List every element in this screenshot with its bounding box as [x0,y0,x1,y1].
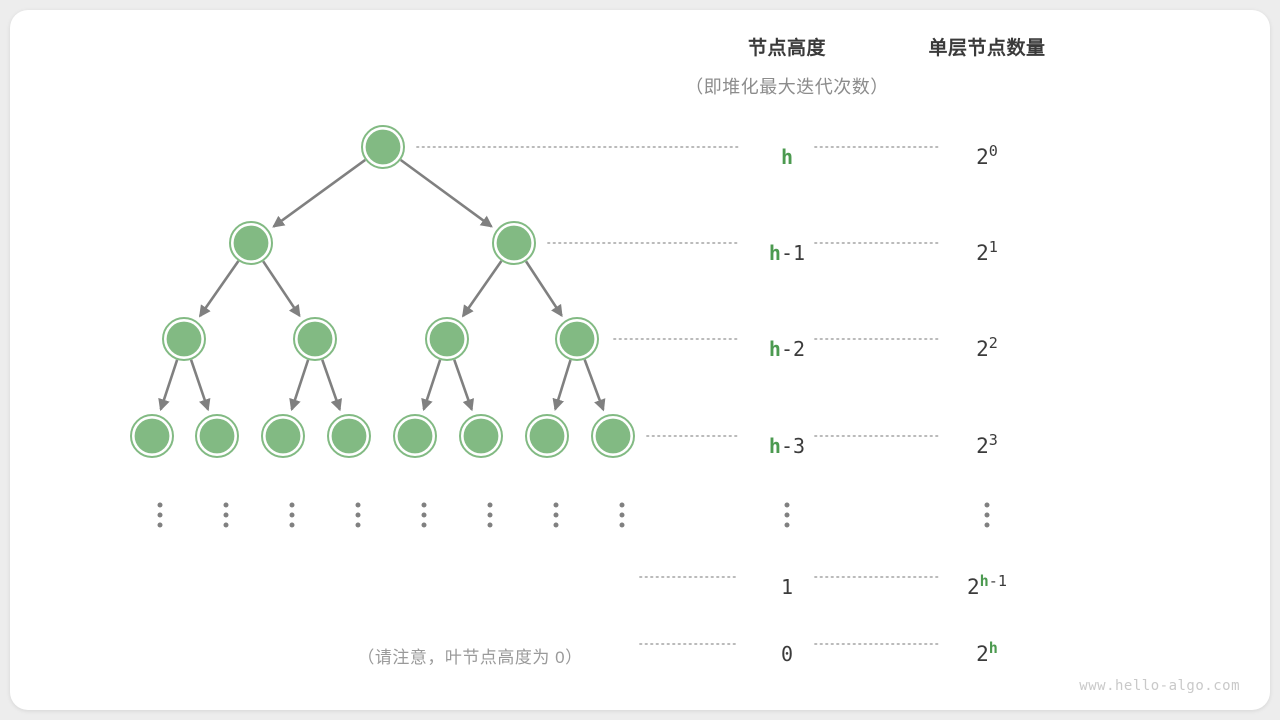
ellipsis-dot [488,503,493,508]
tree-node [163,318,205,360]
tree-edge [463,261,501,316]
count-label-level-2: 22 [976,337,998,361]
ellipsis-dot [422,513,427,518]
count-exponent: 2 [989,334,998,352]
exponent-rest: 3 [989,431,998,449]
ellipsis-dot [356,523,361,528]
tree-edge [555,360,570,409]
count-exponent: 1 [989,238,998,256]
ellipsis-dot [290,503,295,508]
tree-edge [424,360,440,410]
height-symbol: h [769,337,781,361]
tree-edges [161,160,603,410]
ellipsis-dot [356,513,361,518]
count-label-level-last: 2h [976,642,998,666]
tree-column-ellipsis [224,503,229,528]
tree-node [394,415,436,457]
height-label-level-1: h-1 [769,241,805,265]
height-label-level-2: h-2 [769,337,805,361]
ellipsis-dot [554,513,559,518]
tree-node [230,222,272,264]
ellipsis-dot [554,503,559,508]
tree-node [526,415,568,457]
count-column-ellipsis [985,503,990,528]
ellipsis-dot [785,523,790,528]
count-label-level-penultimate: 2h-1 [967,575,1007,599]
tree-column-ellipsis [158,503,163,528]
ellipsis-dot [620,523,625,528]
leaf-height-note: （请注意，叶节点高度为 0） [357,643,582,668]
count-exponent: 0 [989,142,998,160]
ellipsis-dot [785,513,790,518]
count-exponent: 3 [989,431,998,449]
ellipsis-dot [290,523,295,528]
ellipsis-dot [356,503,361,508]
ellipsis-dot [488,513,493,518]
ellipsis-dot [158,503,163,508]
tree-node [460,415,502,457]
count-base: 2 [976,434,989,458]
tree-edge [322,360,339,410]
column-header-node-height: 节点高度 [748,33,826,60]
tree-diagram-svg [0,0,1270,710]
tree-edge [292,360,308,410]
ellipsis-dot [488,523,493,528]
exponent-rest: 1 [989,238,998,256]
count-exponent: h-1 [980,572,1007,590]
tree-node [294,318,336,360]
count-base: 2 [976,241,989,265]
tree-edge [585,360,604,410]
tree-edge [401,160,492,226]
height-offset: -3 [781,434,805,458]
tree-edge [526,261,562,315]
height-label-level-last: 0 [781,642,793,666]
tree-column-ellipsis [554,503,559,528]
ellipsis-dot [620,503,625,508]
ellipsis-dot [422,523,427,528]
tree-edge [263,261,299,315]
ellipsis-dot [620,513,625,518]
ellipsis-dot [422,503,427,508]
ellipsis-dot [224,503,229,508]
tree-column-ellipsis [356,503,361,528]
exponent-rest: 0 [989,142,998,160]
tree-column-ellipsis [290,503,295,528]
exponent-rest: 2 [989,334,998,352]
count-base: 2 [976,337,989,361]
tree-node [328,415,370,457]
height-symbol: h [769,241,781,265]
tree-column-ellipsis [422,503,427,528]
tree-node [131,415,173,457]
height-symbol: h [781,145,793,169]
height-offset: -2 [781,337,805,361]
height-symbol: h [769,434,781,458]
count-base: 2 [967,575,980,599]
tree-column-ellipsis [488,503,493,528]
tree-node [262,415,304,457]
tree-node [362,126,404,168]
ellipsis-dot [158,523,163,528]
tree-edge [191,360,208,410]
ellipsis-dot [224,513,229,518]
ellipsis-dot [290,513,295,518]
diagram-stage: 节点高度 （即堆化最大迭代次数） 单层节点数量 （请注意，叶节点高度为 0） w… [0,0,1280,720]
height-column-ellipsis [785,503,790,528]
tree-edge [200,261,238,316]
height-offset: -1 [781,241,805,265]
column-header-nodes-per-level: 单层节点数量 [928,33,1045,60]
column-header-node-height-subtitle: （即堆化最大迭代次数） [685,73,889,99]
height-label-level-0: h [781,145,793,169]
tree-edge [274,160,366,227]
tree-column-ellipsis [620,503,625,528]
ellipsis-dot [985,513,990,518]
dotted-connector-lines [417,147,939,644]
ellipsis-dot [158,513,163,518]
height-label-level-3: h-3 [769,434,805,458]
ellipsis-dot [224,523,229,528]
tree-node [592,415,634,457]
count-exponent: h [989,639,998,657]
tree-edge [454,360,471,410]
exponent-height-symbol: h [989,639,998,657]
exponent-rest: -1 [989,572,1007,590]
tree-node [196,415,238,457]
count-base: 2 [976,145,989,169]
height-offset: 0 [781,642,793,666]
ellipsis-dot [985,523,990,528]
tree-edge [161,360,177,410]
count-label-level-1: 21 [976,241,998,265]
ellipsis-dot [554,523,559,528]
exponent-height-symbol: h [980,572,989,590]
tree-node [426,318,468,360]
count-label-level-3: 23 [976,434,998,458]
count-label-level-0: 20 [976,145,998,169]
tree-node [493,222,535,264]
ellipsis-dot [785,503,790,508]
height-offset: 1 [781,575,793,599]
ellipsis-dot [985,503,990,508]
tree-node [556,318,598,360]
count-base: 2 [976,642,989,666]
height-label-level-penultimate: 1 [781,575,793,599]
watermark: www.hello-algo.com [1079,678,1240,694]
